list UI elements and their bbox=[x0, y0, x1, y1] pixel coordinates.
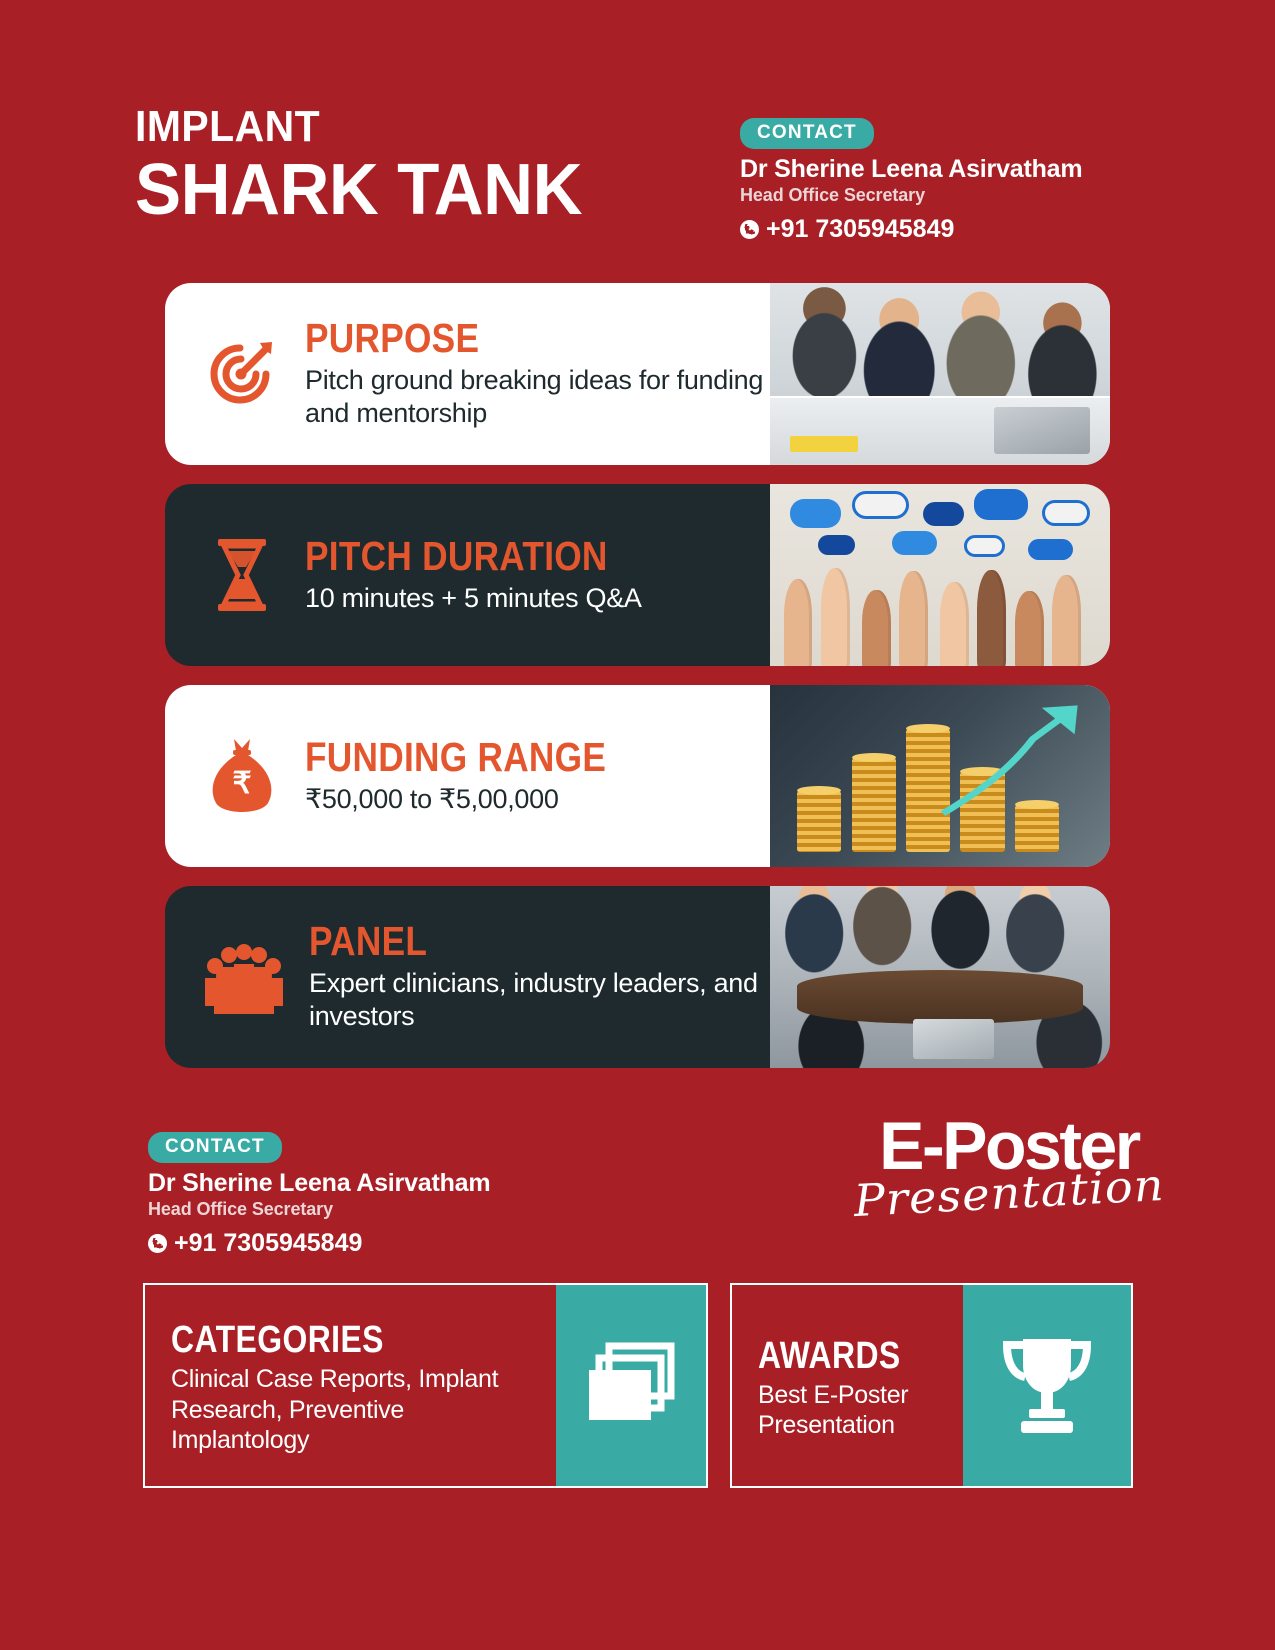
phone-icon bbox=[148, 1234, 167, 1253]
contact-block-top: CONTACT Dr Sherine Leena Asirvatham Head… bbox=[740, 118, 1160, 244]
contact-phone-number-top: +91 7305945849 bbox=[766, 215, 954, 244]
business-team-meeting-photo bbox=[770, 283, 1110, 465]
box-awards-title: AWARDS bbox=[758, 1337, 913, 1375]
card-pitch-duration[interactable]: PITCH DURATION 10 minutes + 5 minutes Q&… bbox=[165, 484, 1110, 666]
contact-role-bottom: Head Office Secretary bbox=[148, 1199, 568, 1220]
poster-root: IMPLANT SHARK TANK CONTACT Dr Sherine Le… bbox=[0, 0, 1275, 1650]
card-funding-range-text: FUNDING RANGE ₹50,000 to ₹5,00,000 bbox=[305, 737, 770, 816]
page-title-line1: IMPLANT bbox=[135, 105, 568, 149]
people-group-icon bbox=[201, 936, 287, 1018]
card-funding-range-title: FUNDING RANGE bbox=[305, 737, 705, 778]
bottom-boxes: CATEGORIES Clinical Case Reports, Implan… bbox=[143, 1283, 1133, 1488]
box-categories[interactable]: CATEGORIES Clinical Case Reports, Implan… bbox=[143, 1283, 708, 1488]
stacked-posters-icon bbox=[556, 1285, 706, 1486]
trophy-icon bbox=[963, 1285, 1131, 1486]
card-funding-range-desc: ₹50,000 to ₹5,00,000 bbox=[305, 783, 770, 816]
card-purpose[interactable]: PURPOSE Pitch ground breaking ideas for … bbox=[165, 283, 1110, 465]
contact-name-bottom: Dr Sherine Leena Asirvatham bbox=[148, 1169, 568, 1198]
card-funding-range[interactable]: ₹ FUNDING RANGE ₹50,000 to ₹5,00,000 bbox=[165, 685, 1110, 867]
box-categories-text: CATEGORIES Clinical Case Reports, Implan… bbox=[145, 1285, 556, 1486]
card-pitch-duration-text: PITCH DURATION 10 minutes + 5 minutes Q&… bbox=[305, 536, 770, 615]
contact-phone-number-bottom: +91 7305945849 bbox=[174, 1229, 362, 1258]
card-purpose-body: PURPOSE Pitch ground breaking ideas for … bbox=[165, 283, 770, 465]
box-awards-desc: Best E-Poster Presentation bbox=[758, 1380, 943, 1441]
page-title-line2: SHARK TANK bbox=[135, 153, 582, 229]
card-pitch-duration-title: PITCH DURATION bbox=[305, 536, 705, 577]
boardroom-panel-photo bbox=[770, 886, 1110, 1068]
card-panel-desc: Expert clinicians, industry leaders, and… bbox=[309, 967, 770, 1033]
box-awards[interactable]: AWARDS Best E-Poster Presentation bbox=[730, 1283, 1133, 1488]
card-purpose-text: PURPOSE Pitch ground breaking ideas for … bbox=[305, 318, 770, 430]
svg-text:₹: ₹ bbox=[232, 767, 251, 800]
box-categories-title: CATEGORIES bbox=[171, 1321, 478, 1359]
contact-role-top: Head Office Secretary bbox=[740, 185, 1160, 206]
card-panel-text: PANEL Expert clinicians, industry leader… bbox=[309, 921, 770, 1033]
feature-cards: PURPOSE Pitch ground breaking ideas for … bbox=[0, 283, 1275, 1087]
contact-name-top: Dr Sherine Leena Asirvatham bbox=[740, 155, 1160, 184]
poster-title-block: IMPLANT SHARK TANK bbox=[135, 105, 601, 229]
poster-header: IMPLANT SHARK TANK CONTACT Dr Sherine Le… bbox=[0, 0, 1275, 260]
box-awards-text: AWARDS Best E-Poster Presentation bbox=[732, 1285, 963, 1486]
target-dart-icon bbox=[201, 333, 283, 415]
card-pitch-duration-desc: 10 minutes + 5 minutes Q&A bbox=[305, 582, 770, 615]
card-funding-range-body: ₹ FUNDING RANGE ₹50,000 to ₹5,00,000 bbox=[165, 685, 770, 867]
contact-badge-bottom: CONTACT bbox=[148, 1132, 282, 1163]
card-pitch-duration-body: PITCH DURATION 10 minutes + 5 minutes Q&… bbox=[165, 484, 770, 666]
coin-stacks-growth-chart-photo bbox=[770, 685, 1110, 867]
hourglass-icon bbox=[201, 534, 283, 616]
phone-icon bbox=[740, 220, 759, 239]
eposter-logo: E-Poster Presentation bbox=[861, 1112, 1157, 1219]
raised-hands-speech-bubbles-photo bbox=[770, 484, 1110, 666]
contact-phone-bottom[interactable]: +91 7305945849 bbox=[148, 1229, 568, 1258]
card-panel-title: PANEL bbox=[309, 921, 705, 962]
card-purpose-desc: Pitch ground breaking ideas for funding … bbox=[305, 364, 770, 430]
money-bag-rupee-icon: ₹ bbox=[201, 735, 283, 817]
card-panel[interactable]: PANEL Expert clinicians, industry leader… bbox=[165, 886, 1110, 1068]
card-purpose-title: PURPOSE bbox=[305, 318, 705, 359]
contact-badge-top: CONTACT bbox=[740, 118, 874, 149]
card-panel-body: PANEL Expert clinicians, industry leader… bbox=[165, 886, 770, 1068]
contact-block-bottom: CONTACT Dr Sherine Leena Asirvatham Head… bbox=[148, 1132, 568, 1258]
box-categories-desc: Clinical Case Reports, Implant Research,… bbox=[171, 1364, 536, 1456]
contact-phone-top[interactable]: +91 7305945849 bbox=[740, 215, 1160, 244]
